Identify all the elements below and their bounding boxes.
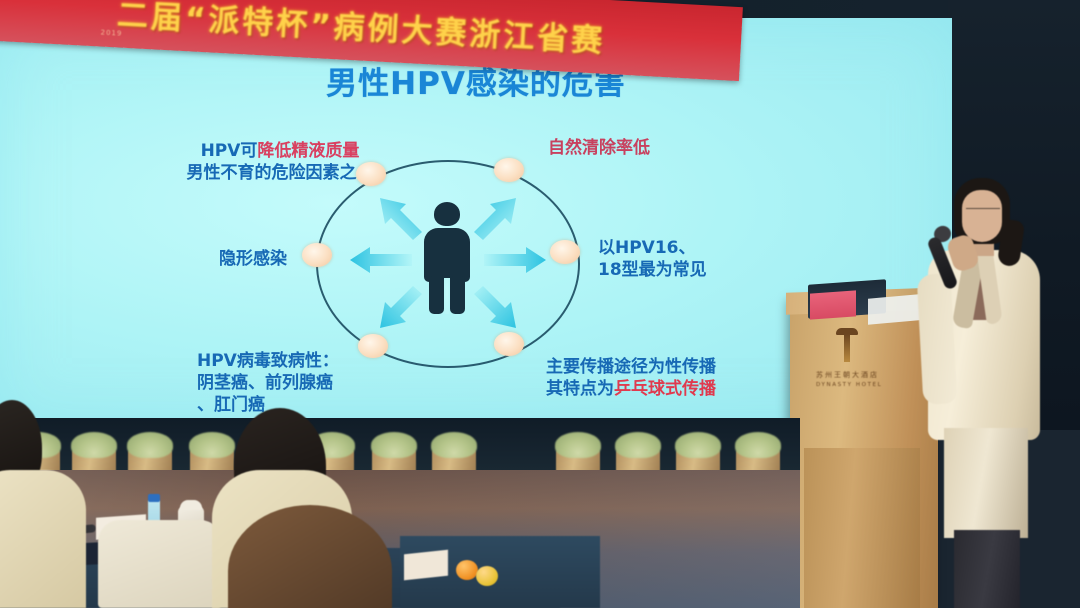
label-tl-part1: HPV可: [201, 141, 258, 161]
diagram-node-left: [302, 243, 332, 267]
podium-base: [804, 448, 920, 608]
fruit-lemon: [476, 566, 498, 586]
label-bl-line3: 、肛门癌: [197, 395, 265, 415]
podium-red-card: [810, 290, 856, 319]
tea-cup-lid: [180, 500, 202, 510]
person-leg-gap: [444, 278, 450, 314]
person-leg-left: [429, 276, 444, 314]
speaker-person: [910, 178, 1050, 608]
person-torso: [424, 228, 470, 282]
speaker-glasses: [966, 208, 1000, 217]
water-bottle-cap: [148, 494, 160, 502]
diagram-node-top-left: [356, 162, 386, 186]
person-leg-right: [450, 276, 465, 314]
speaker-legs: [954, 530, 1020, 608]
diagram-node-right: [550, 240, 580, 264]
label-left: 隐形感染: [219, 249, 287, 271]
dynasty-emblem-icon: [836, 328, 858, 362]
podium-hotel-name-cn: 苏州王朝大酒店: [816, 370, 879, 380]
label-right: 以HPV16、 18型最为常见: [598, 238, 707, 282]
label-r-line2: 18型最为常见: [598, 260, 707, 280]
audience-person-left-body: [0, 470, 86, 608]
diagram-node-bottom-left: [358, 334, 388, 358]
audience-chair: [98, 520, 222, 608]
label-br-part2: 乒乓球式传播: [614, 379, 716, 399]
conference-photo-scene: 男性HPV感染的危害 HPV可降低精液质量 男性不育的危险因素之一 自然清除率低…: [0, 0, 1080, 608]
event-banner-subtext: 2019: [100, 29, 122, 38]
person-head: [434, 202, 460, 226]
hpv-radial-diagram: [298, 148, 598, 378]
desk-name-card-2: [404, 550, 448, 581]
speaker-arm: [917, 273, 958, 405]
label-r-line1: 以HPV16、: [598, 238, 696, 258]
fruit-orange: [456, 560, 478, 580]
diagram-node-top-right: [494, 158, 524, 182]
podium-hotel-name-en: DYNASTY HOTEL: [816, 382, 882, 388]
speaker-skirt: [944, 428, 1028, 538]
label-br-part1: 其特点为: [546, 379, 614, 399]
person-silhouette-icon: [416, 202, 478, 312]
diagram-node-bottom-right: [494, 332, 524, 356]
